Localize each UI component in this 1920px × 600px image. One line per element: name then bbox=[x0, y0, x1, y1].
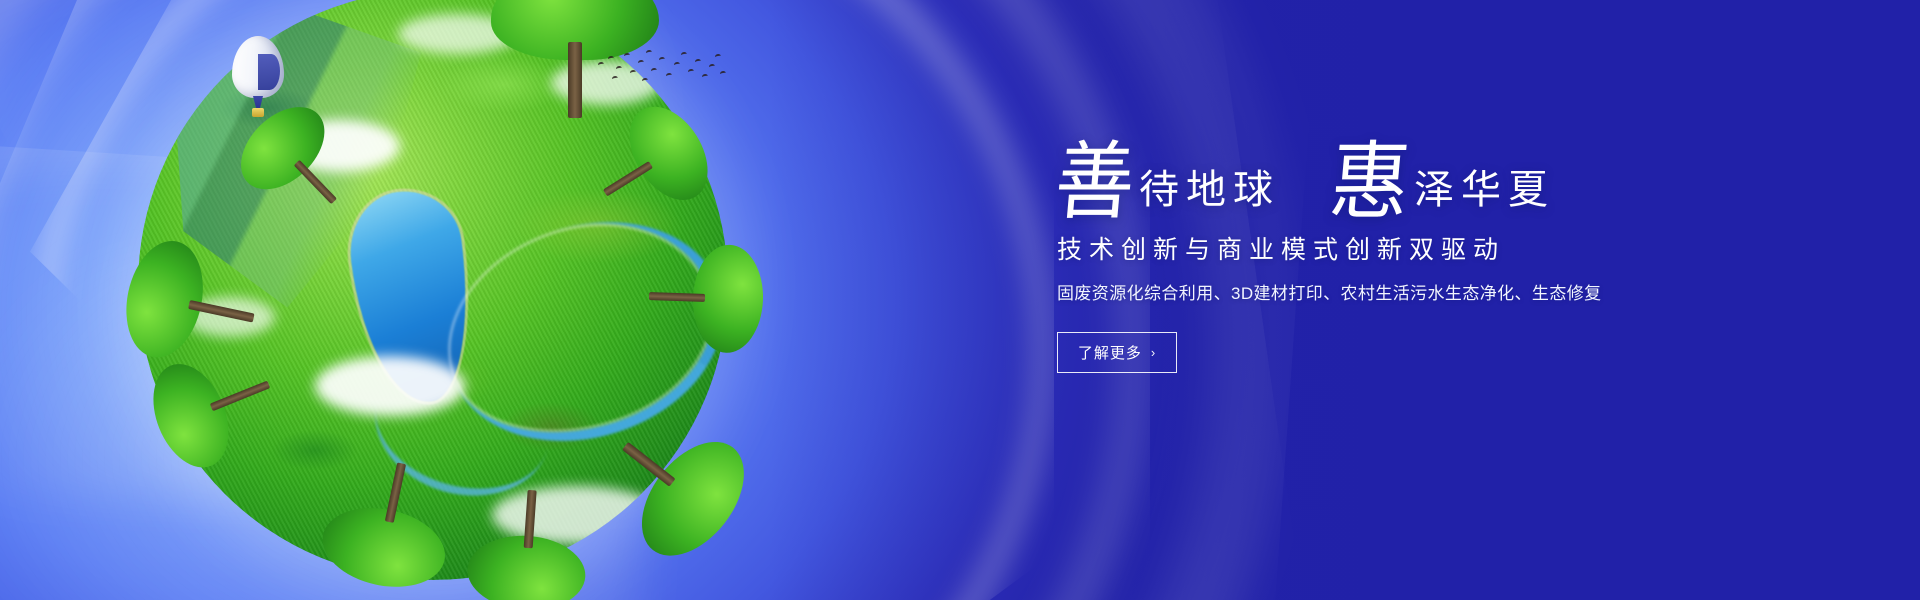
hero-content: 善 待地球 惠 泽华夏 技术创新与商业模式创新双驱动 固废资源化综合利用、3D建… bbox=[1057, 120, 1697, 373]
headline-phrase2-small: 泽华夏 bbox=[1414, 168, 1555, 220]
learn-more-label: 了解更多 bbox=[1078, 342, 1142, 363]
hero-banner: 善 待地球 惠 泽华夏 技术创新与商业模式创新双驱动 固废资源化综合利用、3D建… bbox=[0, 0, 1920, 600]
headline-phrase1-small: 待地球 bbox=[1139, 168, 1280, 220]
headline-phrase2-big: 惠 bbox=[1327, 139, 1413, 224]
chevron-right-icon: › bbox=[1151, 345, 1156, 360]
learn-more-button[interactable]: 了解更多 › bbox=[1057, 332, 1177, 373]
description: 固废资源化综合利用、3D建材打印、农村生活污水生态净化、生态修复 bbox=[1057, 282, 1697, 306]
headline: 善 待地球 惠 泽华夏 bbox=[1057, 120, 1697, 220]
headline-phrase1-big: 善 bbox=[1052, 139, 1138, 224]
subtitle: 技术创新与商业模式创新双驱动 bbox=[1057, 234, 1697, 266]
